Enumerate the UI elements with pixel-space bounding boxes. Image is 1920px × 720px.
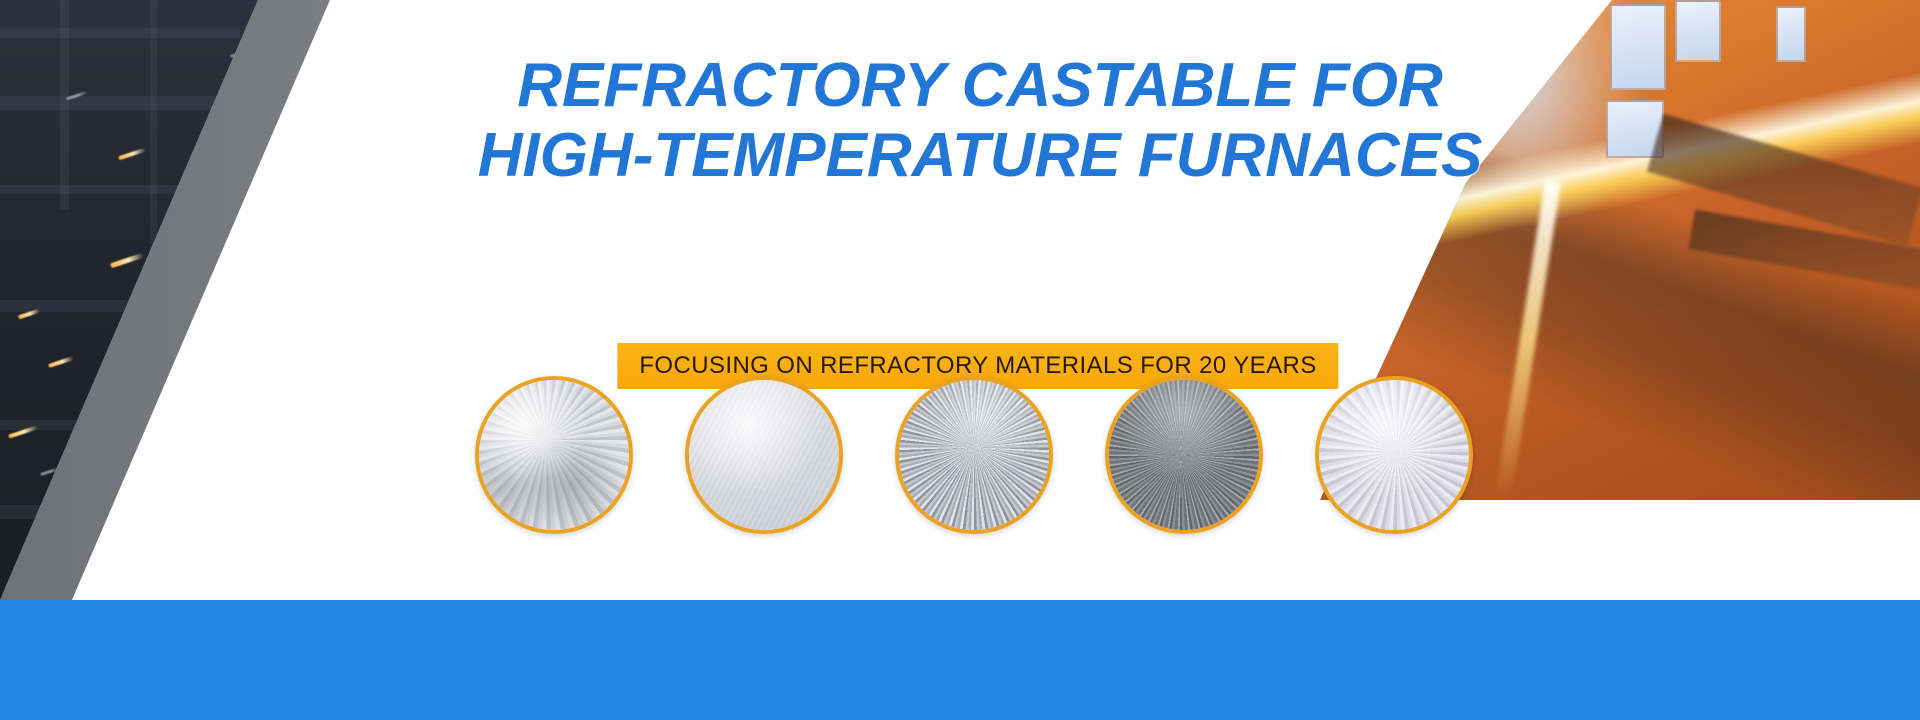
refractory-mix-dark-grey-icon: [1109, 380, 1259, 530]
photo-detail: [0, 28, 240, 38]
product-thumbnail-row: [0, 376, 1920, 534]
product-thumbnail-3[interactable]: [895, 376, 1053, 534]
product-thumbnail-5[interactable]: [1315, 376, 1473, 534]
product-thumbnail-4[interactable]: [1105, 376, 1263, 534]
refractory-castable-white-granular-icon: [479, 380, 629, 530]
spark-icon: [110, 253, 144, 268]
promotional-banner: REFRACTORY CASTABLE FOR HIGH-TEMPERATURE…: [0, 0, 1920, 720]
photo-detail: [0, 300, 140, 312]
page-title: REFRACTORY CASTABLE FOR HIGH-TEMPERATURE…: [0, 54, 1920, 187]
spark-icon: [48, 356, 74, 368]
headline-line-1: REFRACTORY CASTABLE FOR: [40, 54, 1920, 117]
refractory-powder-light-lilac-icon: [1319, 380, 1469, 530]
refractory-aggregate-coarse-grey-icon: [899, 380, 1049, 530]
bottom-blue-band: [0, 590, 1920, 720]
refractory-powder-smooth-white-icon: [689, 380, 839, 530]
photo-detail: [1675, 0, 1721, 62]
product-thumbnail-1[interactable]: [475, 376, 633, 534]
product-thumbnail-2[interactable]: [685, 376, 843, 534]
headline-line-2: HIGH-TEMPERATURE FURNACES: [40, 124, 1920, 187]
